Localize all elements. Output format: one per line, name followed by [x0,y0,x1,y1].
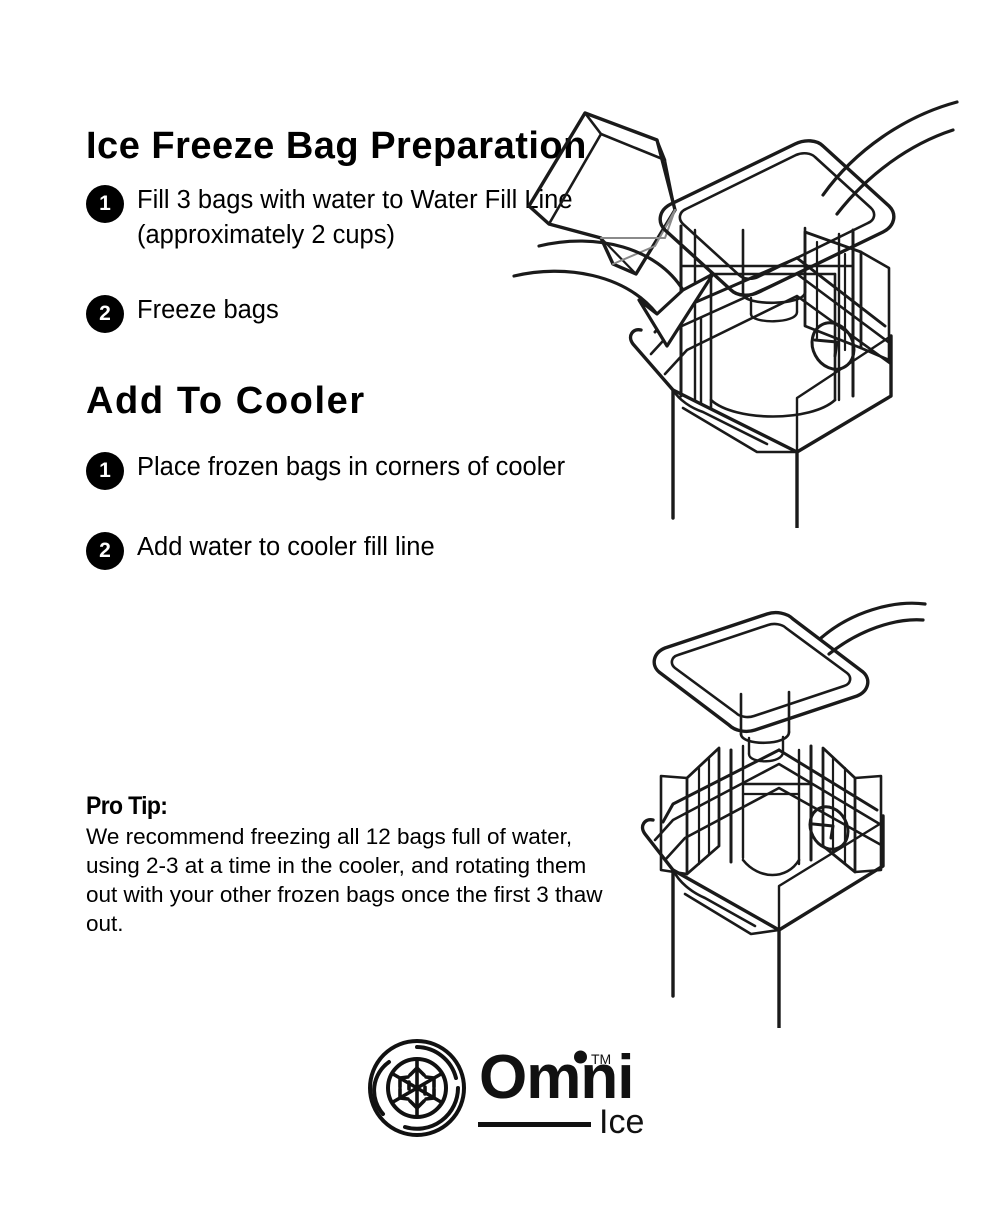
step-number-badge: 1 [86,185,124,223]
logo-rule [478,1122,591,1127]
step-number-badge: 2 [86,295,124,333]
pro-tip-heading: Pro Tip: [86,792,564,820]
hose-icon [821,603,925,654]
pour-arrow-icon [514,241,713,346]
instruction-sheet: Ice Freeze Bag Preparation 1 Fill 3 bags… [0,0,1000,1227]
pro-tip-body: We recommend freezing all 12 bags full o… [86,822,606,938]
step-number-badge: 2 [86,532,124,570]
cooler-interior-cage [731,746,811,875]
step-text: Add water to cooler fill line [137,530,435,565]
wordmark-ice: Ice [599,1103,644,1141]
step-cooler-2: 2 Add water to cooler fill line [86,530,596,570]
pro-tip-block: Pro Tip: We recommend freezing all 12 ba… [86,792,606,938]
cooler-body [643,750,883,1028]
step-text: Place frozen bags in corners of cooler [137,450,565,485]
brand-logo: Omni TM Ice [365,1036,685,1148]
snowflake-mark-icon [370,1041,464,1135]
illustration-pour-bag-into-cooler [505,78,1000,528]
trademark-mark: TM [591,1051,611,1067]
step-number-badge: 1 [86,452,124,490]
hose-icon [823,102,957,214]
step-text: Freeze bags [137,293,279,328]
omni-i-dot [574,1051,587,1064]
illustration-frozen-bags-in-cooler [615,598,1000,1028]
stand-up-pouch-bag [529,113,675,274]
pump-lid [654,613,868,732]
